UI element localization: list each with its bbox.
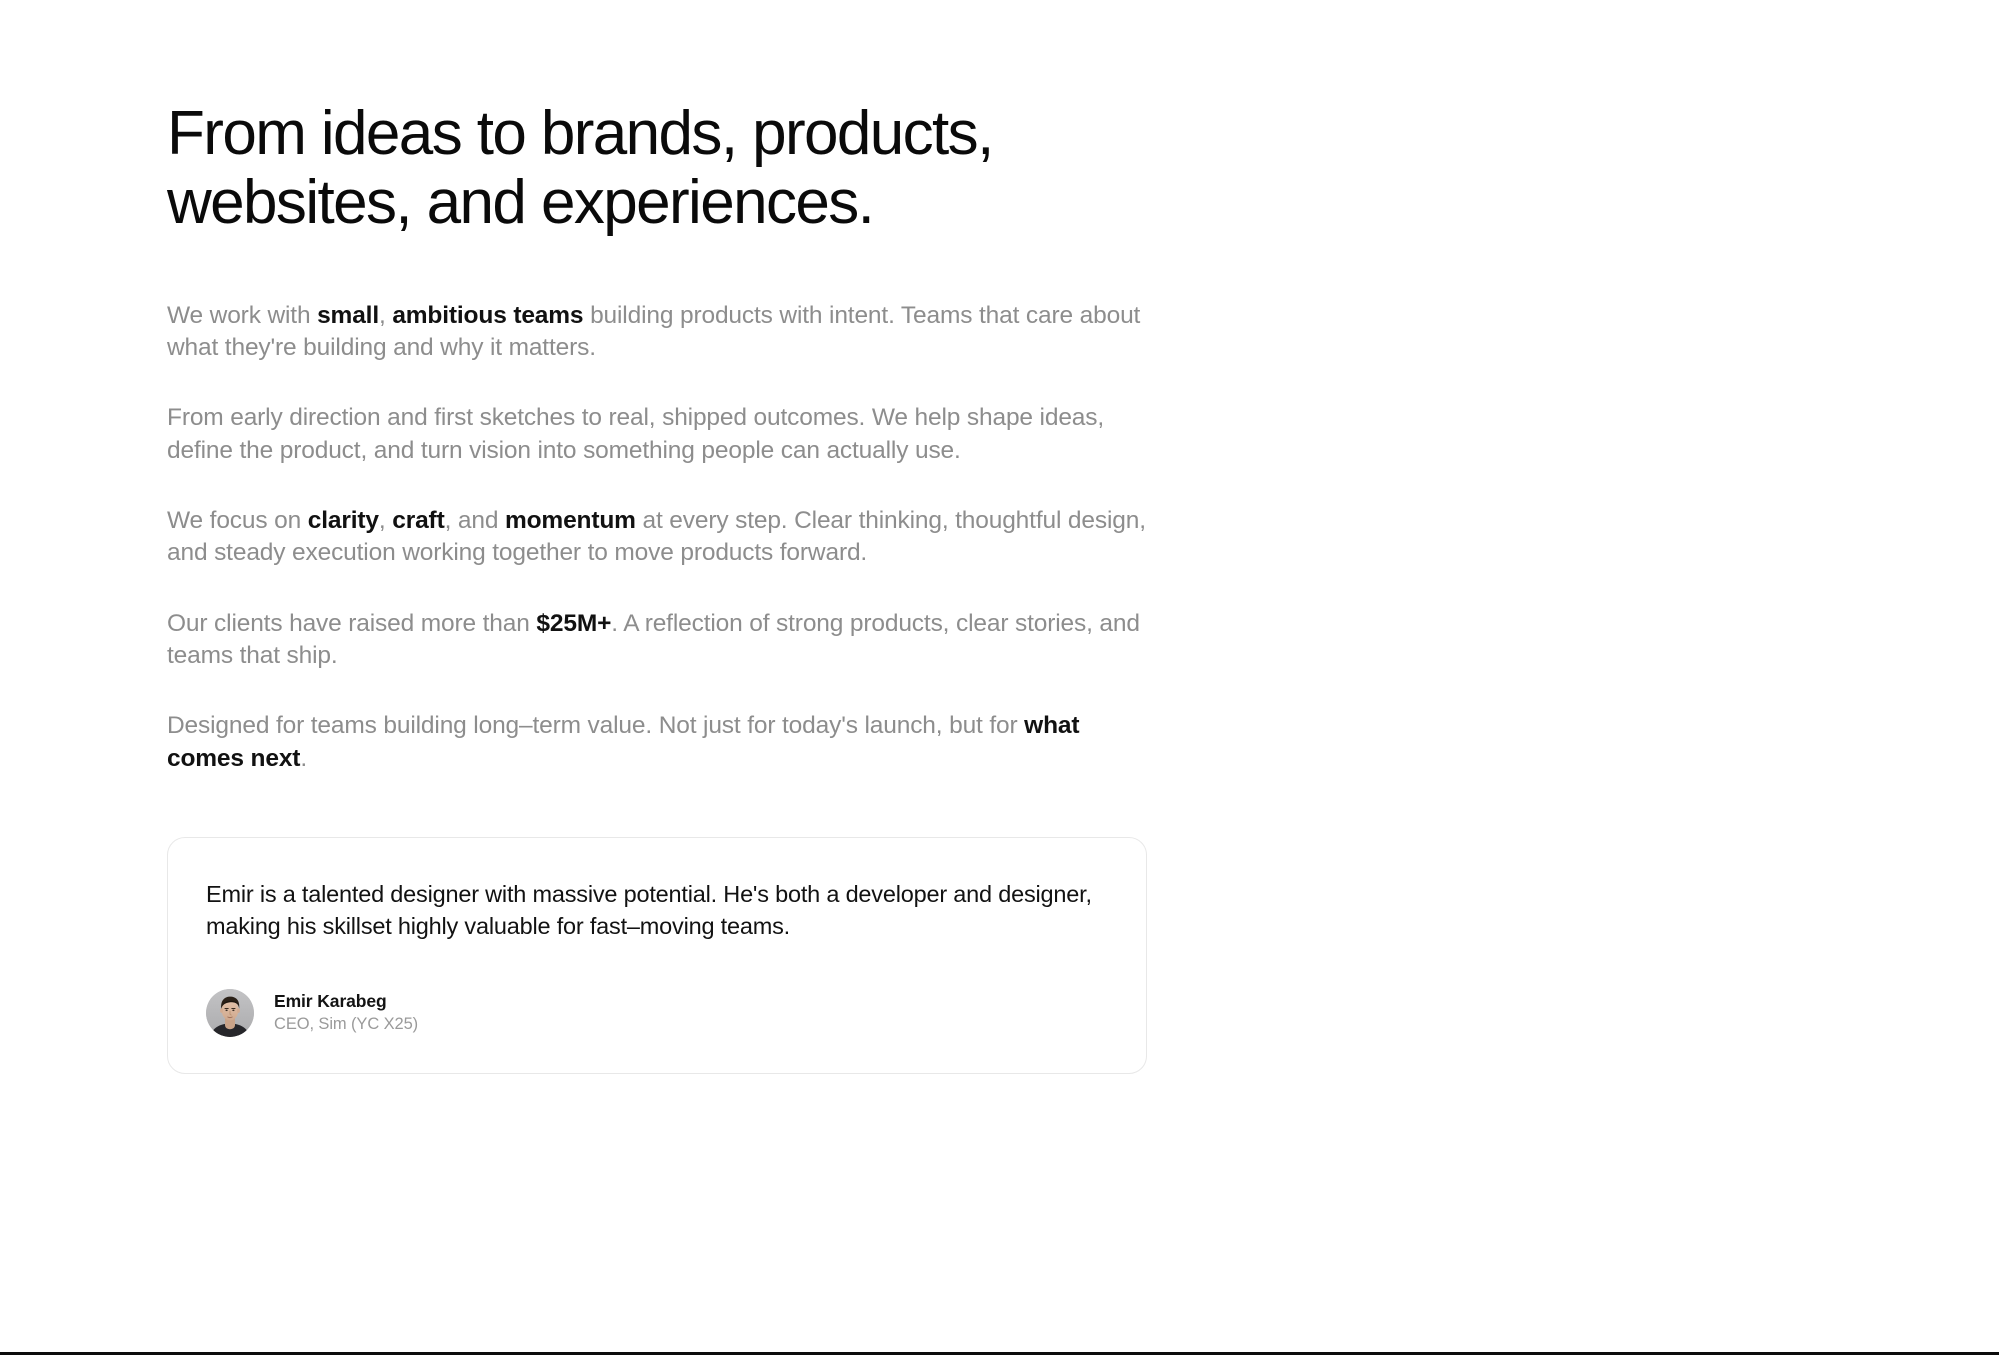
- body-text: From early direction and first sketches …: [167, 404, 1104, 463]
- paragraph-direction: From early direction and first sketches …: [167, 402, 1152, 467]
- author-role: CEO, Sim (YC X25): [274, 1015, 418, 1035]
- body-copy: We work with small, ambitious teams buil…: [167, 300, 1152, 775]
- emphasis-text: momentum: [505, 507, 636, 534]
- content-column: From ideas to brands, products, websites…: [167, 0, 1367, 1074]
- paragraph-focus: We focus on clarity, craft, and momentum…: [167, 505, 1152, 570]
- body-text: .: [300, 745, 307, 772]
- page-title-line-2: websites, and experiences.: [167, 169, 1347, 238]
- page-root: From ideas to brands, products, websites…: [0, 0, 1999, 1355]
- testimonial-author: Emir Karabeg CEO, Sim (YC X25): [206, 989, 1108, 1037]
- paragraph-raised: Our clients have raised more than $25M+.…: [167, 608, 1152, 673]
- emphasis-text: ambitious teams: [392, 302, 583, 329]
- body-text: We work with: [167, 302, 317, 329]
- author-meta: Emir Karabeg CEO, Sim (YC X25): [274, 991, 418, 1035]
- page-title: From ideas to brands, products, websites…: [167, 0, 1347, 238]
- body-text: Designed for teams building long–term va…: [167, 712, 1024, 739]
- paragraph-longterm: Designed for teams building long–term va…: [167, 710, 1152, 775]
- body-text: , and: [445, 507, 505, 534]
- testimonial-card: Emir is a talented designer with massive…: [167, 837, 1147, 1074]
- paragraph-teams: We work with small, ambitious teams buil…: [167, 300, 1152, 365]
- page-title-line-1: From ideas to brands, products,: [167, 100, 1347, 169]
- body-text: Our clients have raised more than: [167, 610, 536, 637]
- emphasis-text: craft: [392, 507, 444, 534]
- emphasis-text: clarity: [308, 507, 379, 534]
- emphasis-text: $25M+: [536, 610, 611, 637]
- body-text: ,: [379, 507, 392, 534]
- testimonial-quote: Emir is a talented designer with massive…: [206, 878, 1096, 943]
- author-name: Emir Karabeg: [274, 991, 418, 1012]
- body-text: We focus on: [167, 507, 308, 534]
- person-photo-avatar-icon: [206, 989, 254, 1037]
- body-text: ,: [379, 302, 392, 329]
- emphasis-text: small: [317, 302, 379, 329]
